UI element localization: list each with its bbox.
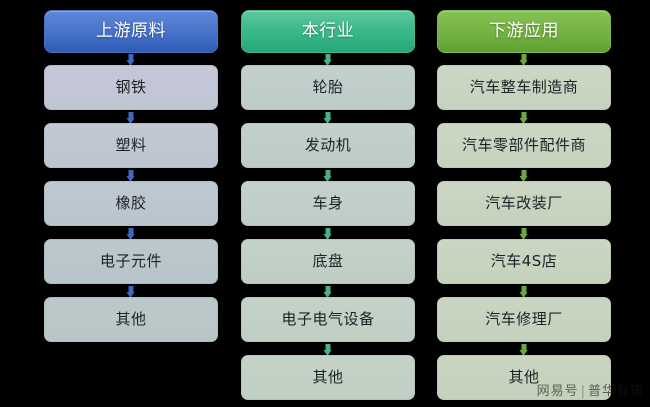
chain-column-downstream: 下游应用 汽车整车制造商 汽车零部件配件商 汽车改装厂 汽车4S店 汽车修理厂 … [437, 0, 611, 407]
node-industry-0[interactable]: 轮胎 [241, 65, 415, 110]
chain-column-upstream: 上游原料 钢铁 塑料 橡胶 电子元件 其他 [44, 0, 218, 407]
node-downstream-3[interactable]: 汽车4S店 [437, 239, 611, 284]
column-header-upstream[interactable]: 上游原料 [44, 10, 218, 53]
node-industry-1[interactable]: 发动机 [241, 123, 415, 168]
column-header-downstream[interactable]: 下游应用 [437, 10, 611, 53]
node-downstream-1[interactable]: 汽车零部件配件商 [437, 123, 611, 168]
node-industry-5[interactable]: 其他 [241, 355, 415, 400]
chain-column-industry: 本行业 轮胎 发动机 车身 底盘 电子电气设备 其他 [241, 0, 415, 407]
node-upstream-4[interactable]: 其他 [44, 297, 218, 342]
column-header-industry[interactable]: 本行业 [241, 10, 415, 53]
node-upstream-0[interactable]: 钢铁 [44, 65, 218, 110]
node-downstream-4[interactable]: 汽车修理厂 [437, 297, 611, 342]
node-downstream-2[interactable]: 汽车改装厂 [437, 181, 611, 226]
node-industry-4[interactable]: 电子电气设备 [241, 297, 415, 342]
node-industry-3[interactable]: 底盘 [241, 239, 415, 284]
industry-chain-diagram: 上游原料 钢铁 塑料 橡胶 电子元件 其他 本行业 轮胎 [0, 0, 650, 407]
node-downstream-0[interactable]: 汽车整车制造商 [437, 65, 611, 110]
node-upstream-3[interactable]: 电子元件 [44, 239, 218, 284]
node-industry-2[interactable]: 车身 [241, 181, 415, 226]
node-upstream-1[interactable]: 塑料 [44, 123, 218, 168]
node-downstream-5[interactable]: 其他 [437, 355, 611, 400]
node-upstream-2[interactable]: 橡胶 [44, 181, 218, 226]
